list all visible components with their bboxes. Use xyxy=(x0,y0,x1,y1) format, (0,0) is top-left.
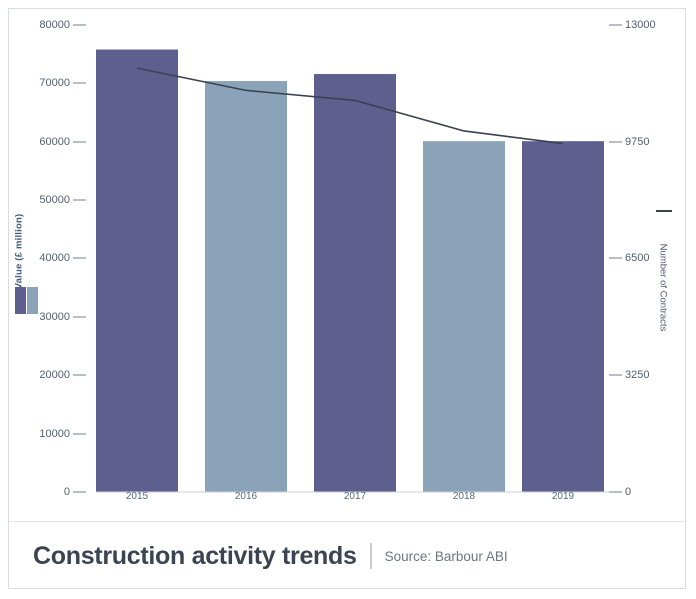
x-axis-tick-2018: 2018 xyxy=(427,491,501,502)
chart-title: Construction activity trends xyxy=(33,542,357,571)
bar-2017 xyxy=(314,74,396,492)
chart-source: Source: Barbour ABI xyxy=(385,549,508,564)
bar-2018 xyxy=(423,141,505,492)
x-axis-tick-2016: 2016 xyxy=(209,491,283,502)
x-axis-tick-2019: 2019 xyxy=(526,491,600,502)
bar-2016 xyxy=(205,81,287,492)
chart-graphic xyxy=(0,0,696,520)
bar-2015 xyxy=(96,50,178,492)
chart-plot-area: Value (£ million) 80000 70000 60000 5000… xyxy=(0,0,696,520)
chart-footer: Construction activity trends Source: Bar… xyxy=(9,521,685,590)
x-axis-tick-2017: 2017 xyxy=(318,491,392,502)
bar-2019 xyxy=(522,141,604,492)
x-axis-tick-2015: 2015 xyxy=(100,491,174,502)
footer-divider xyxy=(370,543,372,569)
